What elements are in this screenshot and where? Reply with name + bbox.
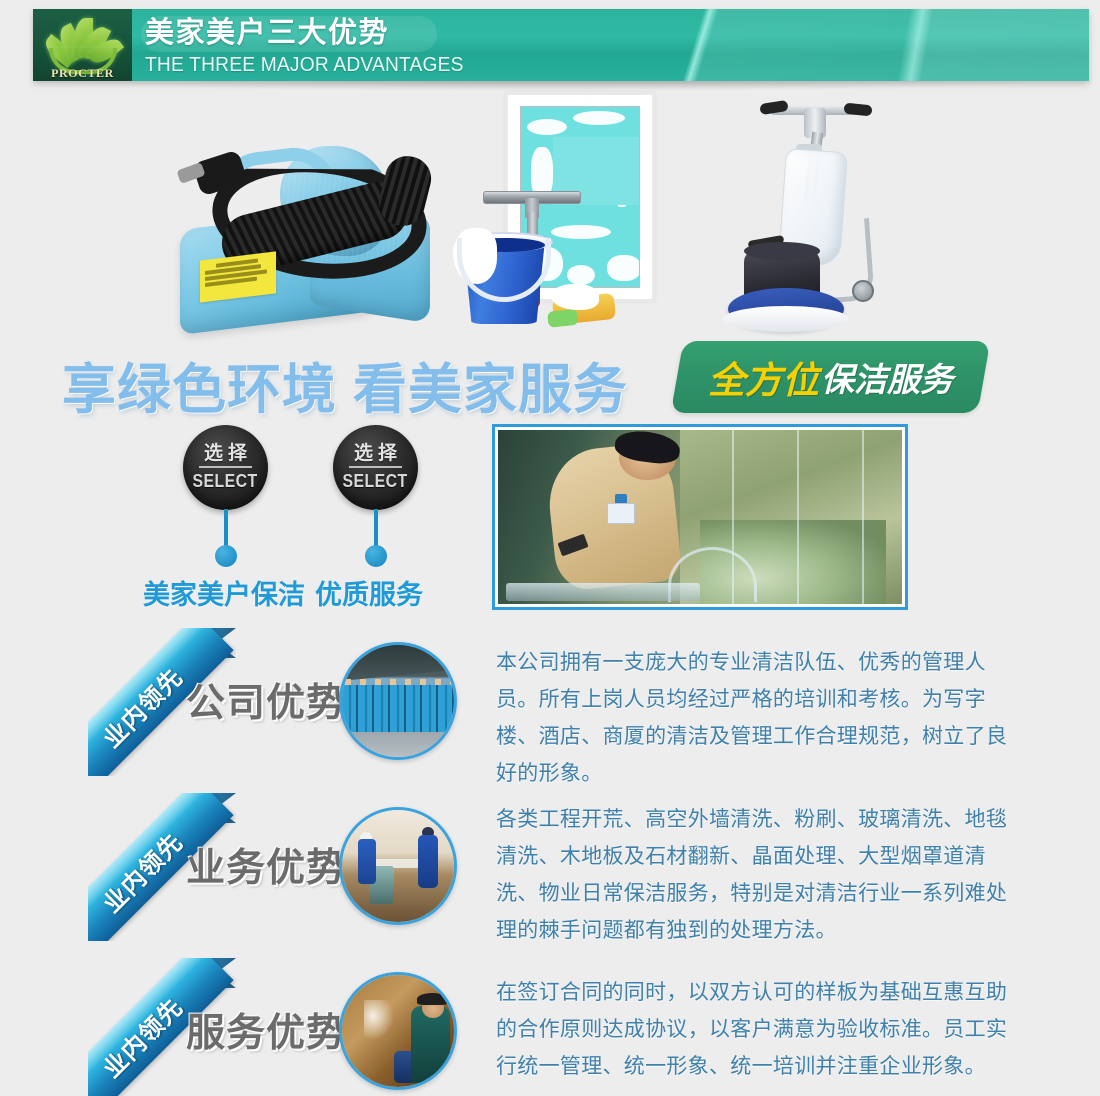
banner-highlight-text: 全方位 xyxy=(708,350,819,404)
advantage-row: 业内领先 业务优势 各类工程开荒、高空外墙清洗、粉刷、玻璃清洗、地毯清洗、木地板… xyxy=(0,785,1100,950)
advantage-photo xyxy=(339,642,457,760)
advantage-title: 业务优势 xyxy=(186,837,346,893)
select-badge-group: 选择 SELECT 美家美户保洁 选择 SELECT 优质服务 xyxy=(0,425,470,610)
advantage-photo xyxy=(339,972,457,1090)
promo-page: PROCTER 美家美户三大优势 THE THREE MAJOR ADVANTA… xyxy=(0,0,1100,1096)
logo-wordmark: PROCTER xyxy=(41,66,125,81)
ribbon-label: 业内领先 xyxy=(93,658,188,753)
select-circle-cn: 选择 xyxy=(349,443,402,468)
header-title-zone: 美家美户三大优势 THE THREE MAJOR ADVANTAGES xyxy=(145,15,477,78)
product-image-row xyxy=(0,88,1100,343)
select-label-1: 美家美户保洁 xyxy=(143,573,305,612)
advantage-description: 各类工程开荒、高空外墙清洗、粉刷、玻璃清洗、地毯清洗、木地板及石材翻新、晶面处理… xyxy=(496,801,1016,949)
advantage-description: 本公司拥有一支庞大的专业清洁队伍、优秀的管理人员。所有上岗人员均经过严格的培训和… xyxy=(496,644,1016,792)
advantage-row: 业内领先 服务优势 在签订合同的同时，以双方认可的样板为基础互惠互助的合作原则达… xyxy=(0,950,1100,1096)
hero-photo xyxy=(492,424,908,610)
select-label-2: 优质服务 xyxy=(315,573,423,612)
header-title-cn: 美家美户三大优势 xyxy=(145,15,477,51)
ulv-sprayer-image xyxy=(160,98,450,338)
main-headline: 享绿色环境 看美家服务 xyxy=(62,345,628,424)
header-bar: PROCTER 美家美户三大优势 THE THREE MAJOR ADVANTA… xyxy=(33,9,1089,81)
advantage-title: 服务优势 xyxy=(186,1002,346,1058)
banner-rest-text: 保洁服务 xyxy=(821,353,953,401)
brand-logo: PROCTER xyxy=(33,9,132,81)
advantage-title: 公司优势 xyxy=(186,672,346,728)
ribbon-label: 业内领先 xyxy=(93,988,188,1083)
pin-dot-icon xyxy=(365,545,387,567)
select-circle-cn: 选择 xyxy=(199,443,252,468)
select-circle-icon[interactable]: 选择 SELECT xyxy=(333,425,418,510)
advantage-row: 业内领先 公司优势 本公司拥有一支庞大的专业清洁队伍、优秀的管理人员。所有上岗人… xyxy=(0,620,1100,785)
advantage-photo xyxy=(339,807,457,925)
pin-dot-icon xyxy=(215,545,237,567)
advantage-description: 在签订合同的同时，以双方认可的样板为基础互惠互助的合作原则达成协议，以客户满意为… xyxy=(496,974,1016,1085)
ribbon-label: 业内领先 xyxy=(93,823,188,918)
select-circle-icon[interactable]: 选择 SELECT xyxy=(183,425,268,510)
header-title-en: THE THREE MAJOR ADVANTAGES xyxy=(145,52,464,78)
advantages-list: 业内领先 公司优势 本公司拥有一支庞大的专业清洁队伍、优秀的管理人员。所有上岗人… xyxy=(0,620,1100,1096)
page-header: PROCTER 美家美户三大优势 THE THREE MAJOR ADVANTA… xyxy=(33,9,1089,81)
select-circle-en: SELECT xyxy=(343,471,408,492)
select-circle-en: SELECT xyxy=(193,471,258,492)
leaves-crown-icon: PROCTER xyxy=(41,12,125,78)
full-service-banner: 全方位 保洁服务 xyxy=(671,341,991,413)
floor-polisher-image xyxy=(720,88,910,338)
window-cleaning-kit-image xyxy=(455,88,675,338)
